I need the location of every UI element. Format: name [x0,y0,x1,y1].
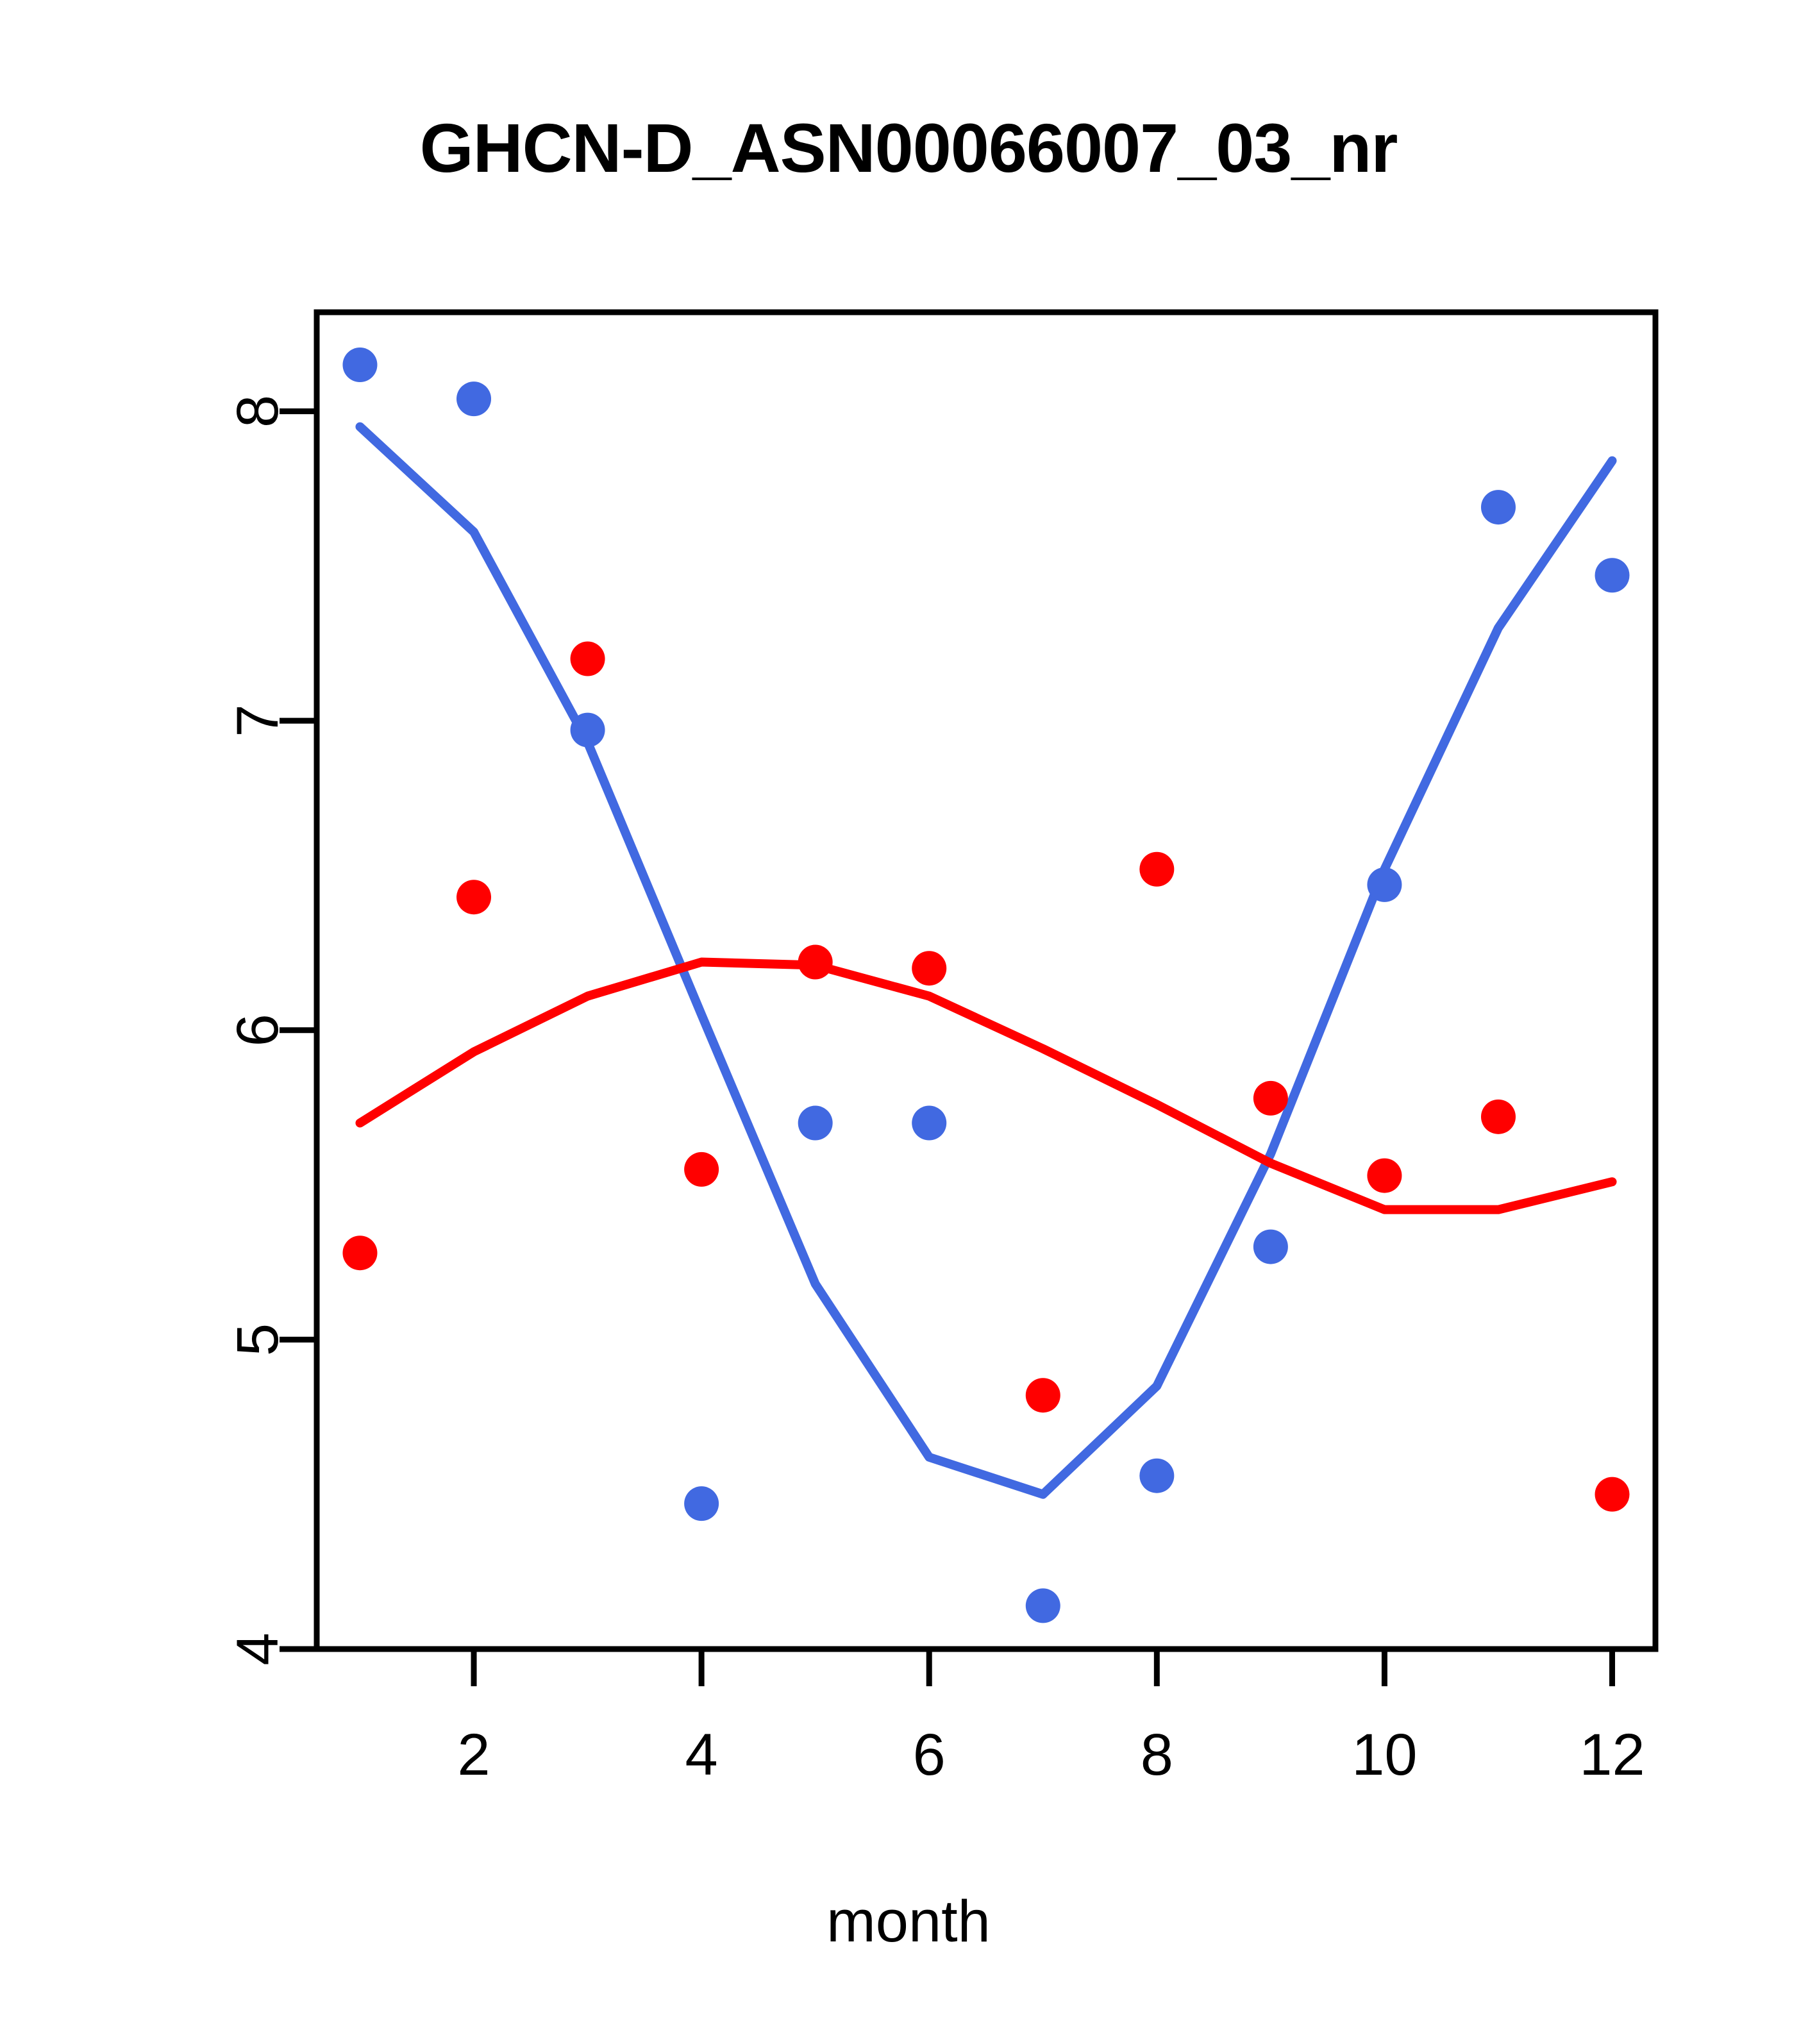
data-point-blue-points [684,1486,719,1521]
data-point-blue-points [1367,867,1402,902]
data-point-blue-points [1139,1459,1174,1493]
data-point-red-points [1253,1081,1288,1116]
data-point-red-points [684,1152,719,1187]
data-point-red-points [1595,1477,1630,1512]
x-axis-tick-label: 6 [913,1722,946,1788]
data-point-blue-points [571,713,605,748]
y-axis-tick-label: 8 [225,395,290,428]
x-axis-tick-label: 2 [457,1722,490,1788]
data-point-blue-points [456,381,491,416]
x-axis-tick-label: 12 [1579,1722,1645,1788]
y-axis-tick-label: 4 [225,1632,290,1665]
x-axis-tick-label: 8 [1141,1722,1173,1788]
plot-area: 4567824681012 [0,0,1817,2044]
data-point-red-points [571,642,605,676]
data-point-blue-points [798,1106,833,1141]
data-point-blue-points [1253,1230,1288,1264]
data-point-blue-points [1595,558,1630,592]
data-point-blue-points [342,348,377,382]
data-point-blue-points [1026,1588,1060,1623]
data-point-red-points [456,880,491,914]
y-axis-tick-label: 7 [225,704,290,737]
y-axis-tick-label: 6 [225,1014,290,1046]
data-point-red-points [1481,1100,1516,1134]
data-point-red-points [798,945,833,980]
x-axis-label: month [0,1888,1817,1956]
x-axis-tick-label: 4 [685,1722,718,1788]
data-point-red-points [342,1236,377,1270]
y-axis-tick-label: 5 [225,1323,290,1356]
series-line-blue-line [360,427,1612,1495]
plot-box [317,312,1655,1649]
x-axis-tick-label: 10 [1352,1722,1417,1788]
data-point-red-points [912,951,946,985]
data-point-blue-points [912,1106,946,1141]
data-point-blue-points [1481,490,1516,524]
data-point-red-points [1026,1378,1060,1412]
figure-container: GHCN-D_ASN00066007_03_nr 4567824681012 m… [0,0,1817,2044]
data-point-red-points [1367,1159,1402,1193]
series-line-red-line [360,962,1612,1210]
data-point-red-points [1139,852,1174,887]
